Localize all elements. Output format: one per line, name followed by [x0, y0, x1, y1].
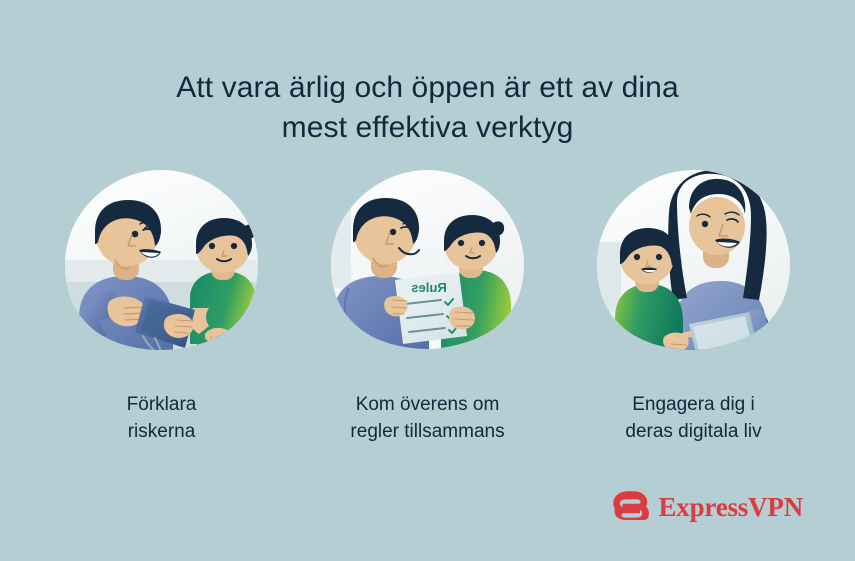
- expressvpn-e-mark: [613, 490, 649, 524]
- figure-boy-1: [190, 218, 261, 368]
- scene-clip-3: [591, 168, 796, 368]
- card-explain-risks: Förklara riskerna: [56, 168, 268, 446]
- card-row: Förklara riskerna: [0, 168, 855, 446]
- card-agree-on-rules: Rules: [322, 168, 534, 446]
- scene-clip-1: [59, 168, 264, 368]
- illustration-father-and-boy-with-tablet: [59, 168, 264, 368]
- card-caption: Kom överens om regler tillsammans: [350, 392, 504, 446]
- paper-heading: Rules: [411, 280, 446, 295]
- page-title: Att vara ärlig och öppen är ett av dina …: [0, 68, 855, 147]
- illustration-father-and-boy-holding-rules-paper: Rules: [325, 168, 530, 368]
- expressvpn-logo[interactable]: ExpressVPN: [613, 490, 803, 524]
- infographic-root: Att vara ärlig och öppen är ett av dina …: [0, 0, 855, 561]
- card-caption: Engagera dig i deras digitala liv: [625, 392, 761, 446]
- expressvpn-wordmark: ExpressVPN: [658, 494, 803, 521]
- card-engage-digital-life: Engagera dig i deras digitala liv: [588, 168, 800, 446]
- scene-clip-2: Rules: [325, 168, 530, 368]
- illustration-mother-and-boy-with-tablet: [591, 168, 796, 368]
- card-caption: Förklara riskerna: [127, 392, 197, 446]
